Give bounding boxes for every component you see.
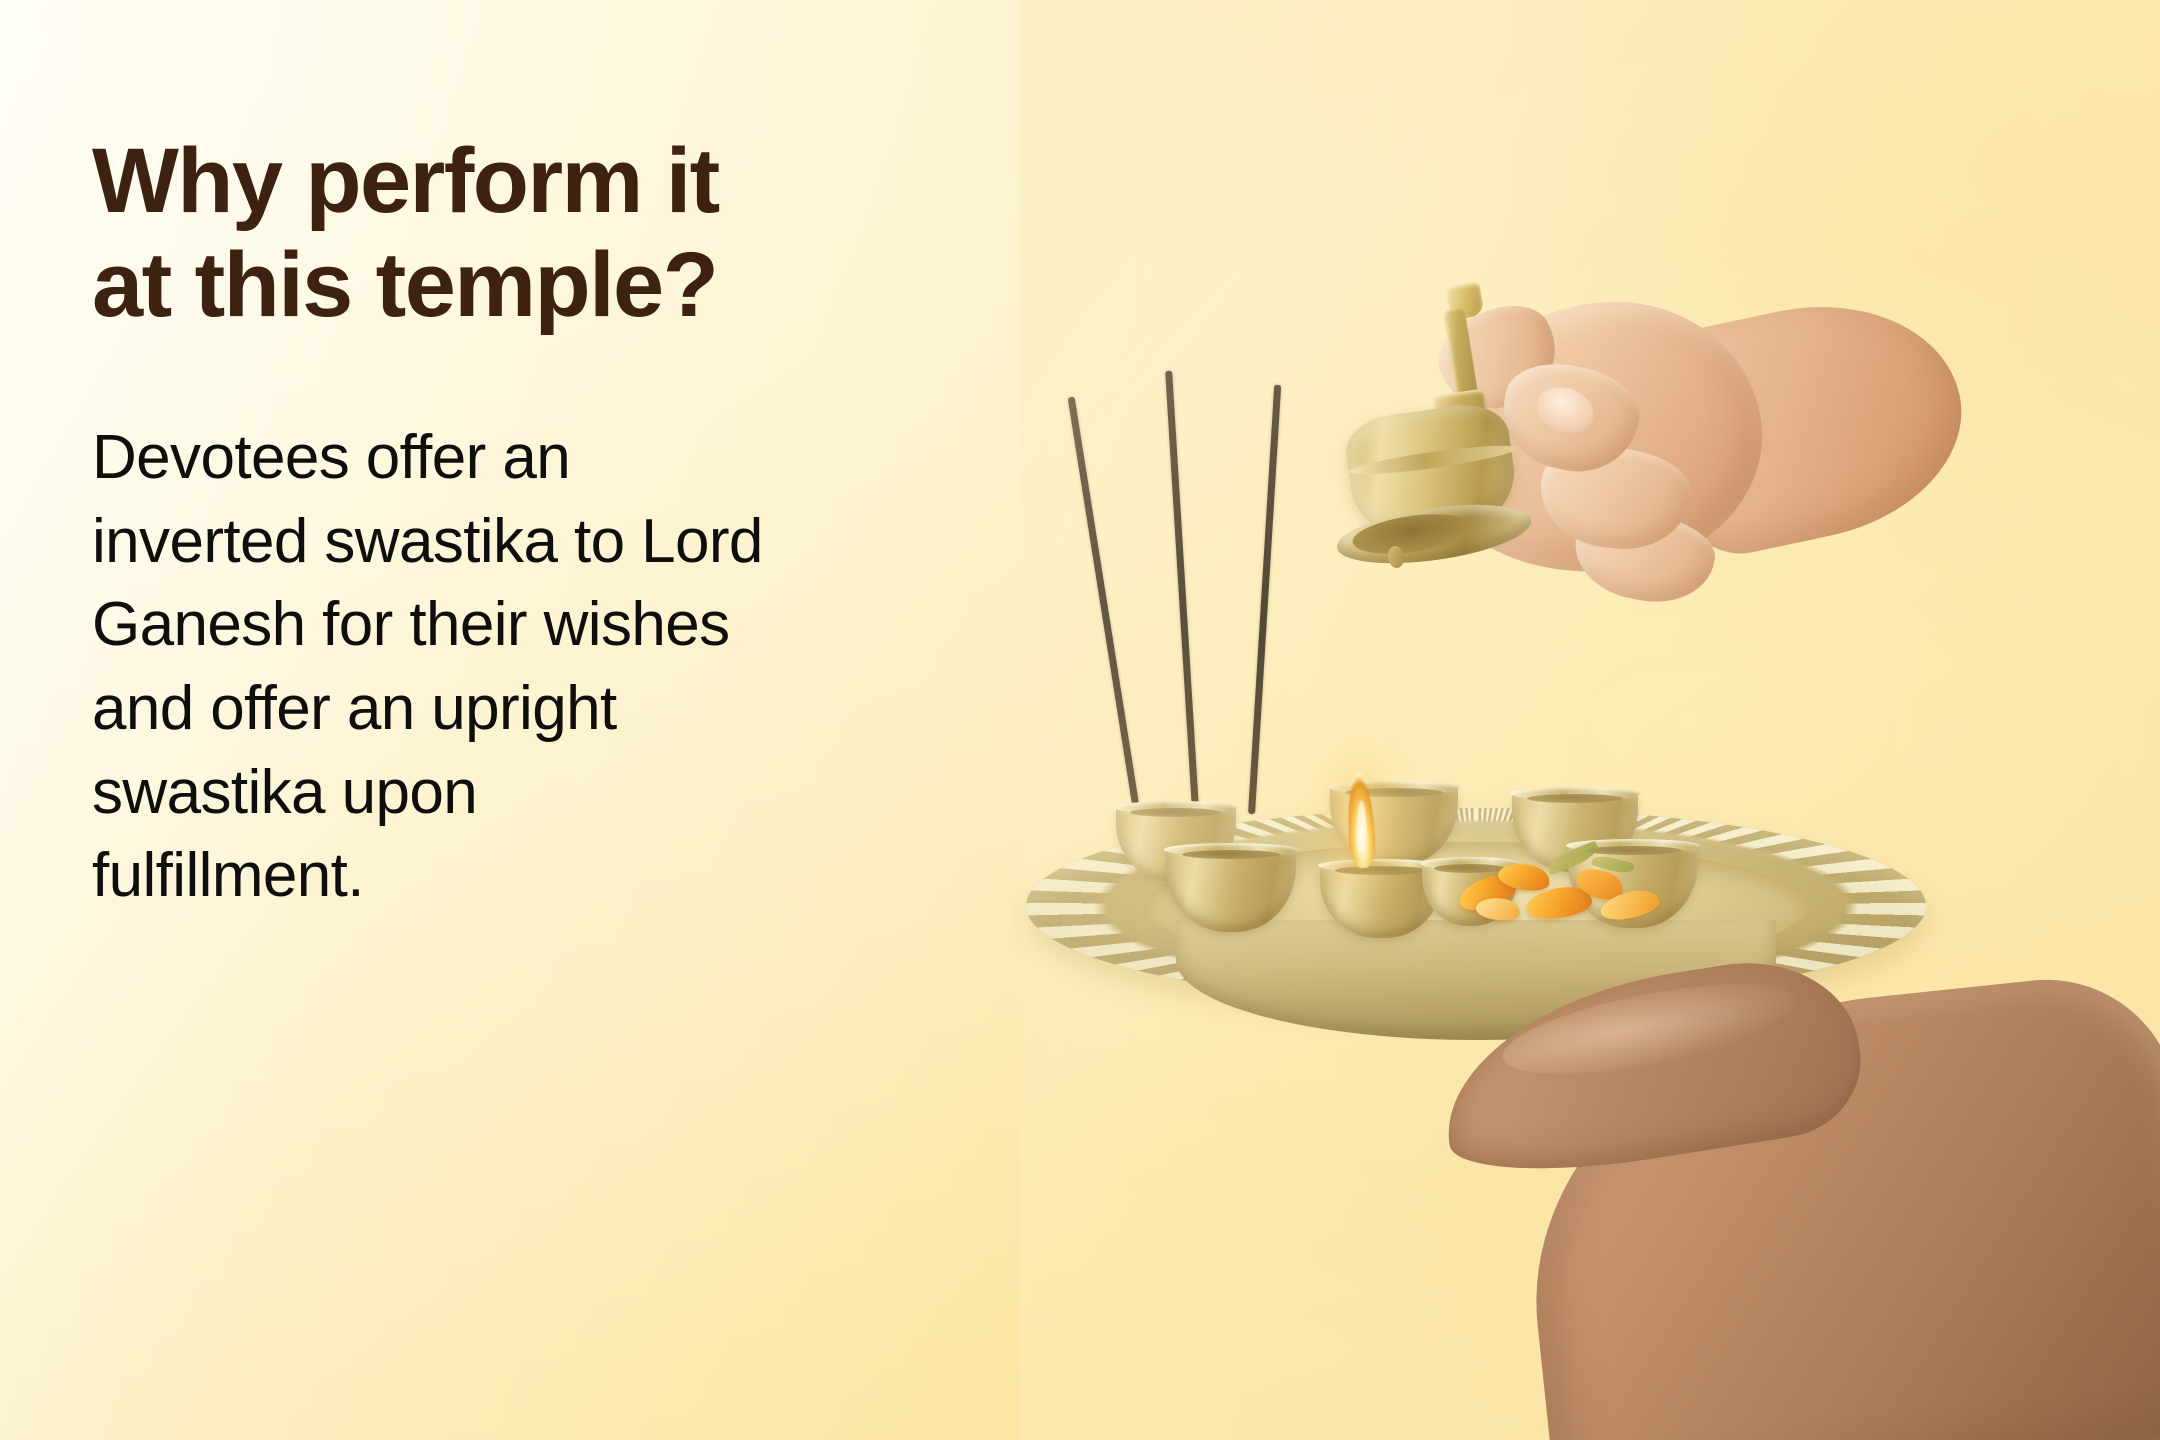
supporting-hand [1380,960,2160,1440]
body-line-3: Ganesh for their wishes [92,583,1032,667]
brass-bell-icon [1322,284,1562,584]
incense-stick-icon [1165,371,1199,811]
incense-stick-icon [1248,385,1281,815]
page-title: Why perform it at this temple? [92,130,1092,338]
incense-stick-icon [1068,397,1139,805]
marigold-flowers [1450,862,1680,932]
body-line-5: swastika upon [92,751,1032,835]
bell-hand [1322,270,1922,690]
body-line-1: Devotees offer an [92,416,1032,500]
text-column: Why perform it at this temple? Devotees … [92,130,1092,918]
headline-line-1: Why perform it [92,130,1092,234]
puja-photo [1020,0,2160,1440]
slide-canvas: Why perform it at this temple? Devotees … [0,0,2160,1440]
body-line-6: fulfillment. [92,834,1032,918]
body-paragraph: Devotees offer an inverted swastika to L… [92,416,1032,918]
body-line-2: inverted swastika to Lord [92,500,1032,584]
headline-line-2: at this temple? [92,234,1092,338]
body-line-4: and offer an upright [92,667,1032,751]
